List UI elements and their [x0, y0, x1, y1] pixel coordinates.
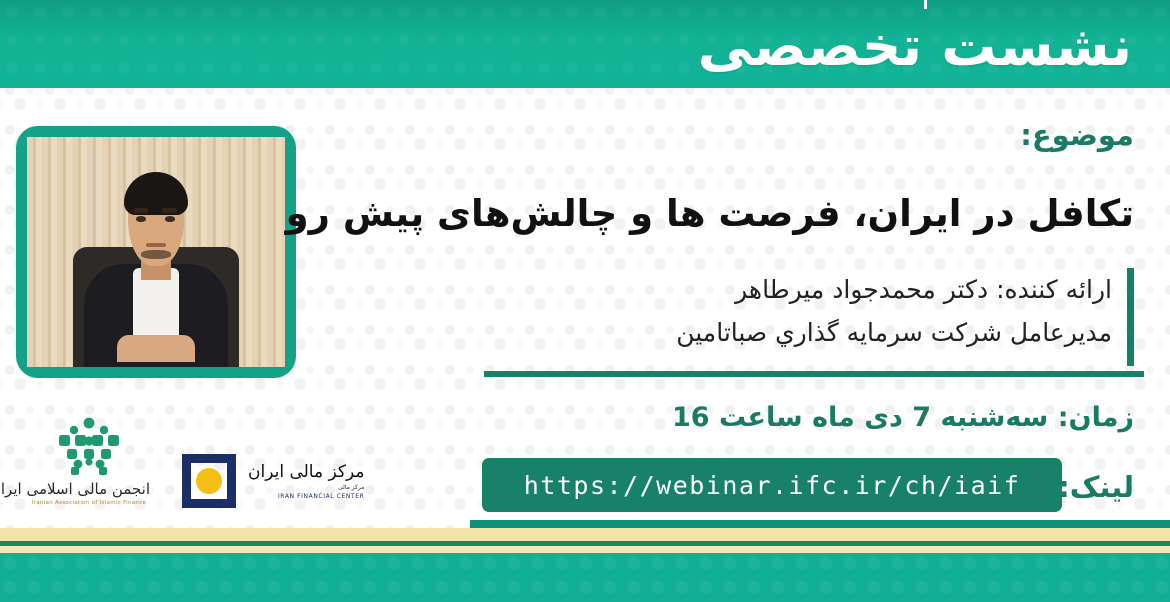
- page-title: نشست تخصصی: [698, 4, 1132, 88]
- header-notch-mark: [924, 0, 927, 9]
- photo-eyebrow-right: [162, 208, 176, 213]
- event-time: زمان: سه‌شنبه 7 دی ماه ساعت 16: [330, 402, 1134, 433]
- link-label: لینک:: [1058, 470, 1134, 504]
- presenter-block: ارائه کننده: دکتر محمدجواد میرطاهر مدیرع…: [330, 268, 1134, 354]
- presenter-role: مدیرعامل شرکت سرمایه گذاري صباتامین: [330, 311, 1134, 354]
- logo-iaif: انجمن مالی اسلامی ایران Iranian Associat…: [28, 415, 150, 533]
- photo-mouth: [146, 243, 167, 248]
- presenter-name: ارائه کننده: دکتر محمدجواد میرطاهر: [330, 268, 1134, 311]
- photo-eye-right: [165, 216, 175, 222]
- ifc-name-en: IRAN FINANCIAL CENTER: [248, 493, 364, 500]
- ifc-emblem-icon: [178, 450, 240, 512]
- webinar-url[interactable]: https://webinar.ifc.ir/ch/iaif: [524, 471, 1021, 500]
- footer-band: [0, 553, 1170, 602]
- footer-stripe-gold-bottom: [0, 546, 1170, 553]
- event-poster: نشست تخصصی موضوع: تکافل در ایران، فرصت ه…: [0, 0, 1170, 602]
- ifc-sub-fa: مرکز مالی: [248, 484, 364, 491]
- iaif-name-fa: انجمن مالی اسلامی ایران: [28, 480, 150, 498]
- session-title: تکافل در ایران، فرصت ها و چالش‌های پیش ر…: [330, 190, 1134, 239]
- speaker-photo: [27, 137, 285, 367]
- header-band: نشست تخصصی: [0, 0, 1170, 88]
- speaker-photo-frame: [16, 126, 296, 378]
- photo-beard: [141, 250, 172, 259]
- subject-label: موضوع:: [1020, 118, 1134, 152]
- section-divider: [484, 371, 1144, 377]
- ifc-name-fa: مرکز مالی ایران: [248, 462, 364, 482]
- footer-band-texture: [0, 553, 1170, 602]
- logo-ifc: مرکز مالی ایران مرکز مالی IRAN FINANCIAL…: [178, 438, 350, 524]
- presenter-accent-bar: [1127, 268, 1134, 366]
- webinar-link-button[interactable]: https://webinar.ifc.ir/ch/iaif: [482, 458, 1062, 512]
- photo-hands: [117, 335, 194, 363]
- iaif-emblem-icon: [51, 415, 127, 477]
- iaif-name-en: Iranian Association of Islamic Finance: [28, 500, 150, 506]
- footer-stripe-gold-top: [0, 528, 1170, 541]
- ifc-text-block: مرکز مالی ایران مرکز مالی IRAN FINANCIAL…: [248, 462, 364, 500]
- photo-eyebrow-left: [134, 208, 148, 213]
